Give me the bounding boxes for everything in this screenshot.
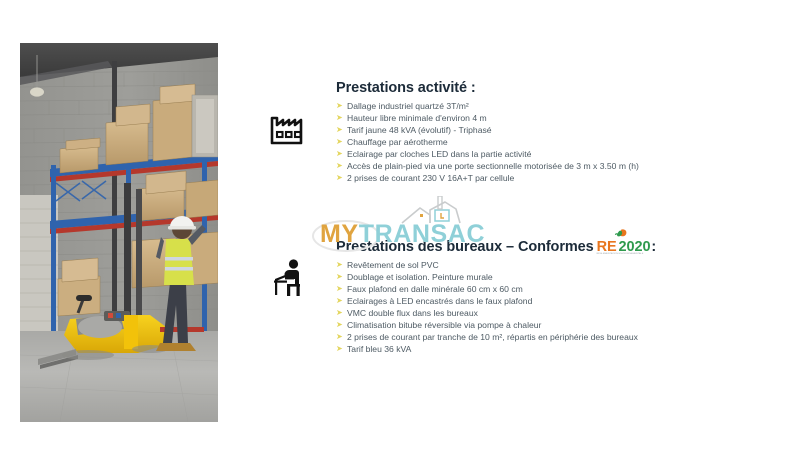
factory-icon-glyph — [266, 106, 312, 152]
list-item: ➤Accès de plain-pied via une porte secti… — [336, 160, 786, 172]
list-item: ➤Dallage industriel quartzé 3T/m² — [336, 100, 786, 112]
re-badge-subtitle: RÉGLEMENTATION ENVIRONNEMENTALE — [597, 253, 644, 255]
specifications-content: Prestations activité : ➤Dallage industri… — [258, 80, 786, 380]
chevron-right-icon: ➤ — [336, 271, 343, 283]
chevron-right-icon: ➤ — [336, 283, 343, 295]
list-item: ➤Hauteur libre minimale d'environ 4 m — [336, 112, 786, 124]
factory-icon — [266, 106, 312, 152]
section-activite-title: Prestations activité : — [336, 80, 786, 96]
chevron-right-icon: ➤ — [336, 136, 343, 148]
section-bureaux: Prestations des bureaux – ConformesRE202… — [258, 239, 786, 355]
list-item: ➤Tarif jaune 48 kVA (évolutif) - Triphas… — [336, 124, 786, 136]
chevron-right-icon: ➤ — [336, 160, 343, 172]
list-item: ➤2 prises de courant par tranche de 10 m… — [336, 331, 786, 343]
list-item: ➤2 prises de courant 230 V 16A+T par cel… — [336, 172, 786, 184]
chevron-right-icon: ➤ — [336, 112, 343, 124]
chevron-right-icon: ➤ — [336, 307, 343, 319]
leaf-icon-glyph — [614, 228, 627, 239]
leaf-icon — [614, 228, 627, 239]
list-item: ➤Doublage et isolation. Peinture murale — [336, 271, 786, 283]
list-item: ➤Chauffage par aérotherme — [336, 136, 786, 148]
list-item: ➤Eclairage par cloches LED dans la parti… — [336, 148, 786, 160]
warehouse-interior-photo — [20, 43, 218, 422]
warehouse-photo-graphic — [20, 43, 218, 422]
slide-canvas: Prestations activité : ➤Dallage industri… — [0, 0, 800, 450]
list-item: ➤Eclairages à LED encastrés dans le faux… — [336, 295, 786, 307]
activite-bullet-list: ➤Dallage industriel quartzé 3T/m² ➤Haute… — [336, 100, 786, 184]
chevron-right-icon: ➤ — [336, 100, 343, 112]
list-item: ➤Faux plafond en dalle minérale 60 cm x … — [336, 283, 786, 295]
person-at-desk-icon — [266, 254, 312, 300]
chevron-right-icon: ➤ — [336, 259, 343, 271]
list-item: ➤Revêtement de sol PVC — [336, 259, 786, 271]
person-at-desk-icon-glyph — [266, 254, 312, 300]
chevron-right-icon: ➤ — [336, 343, 343, 355]
chevron-right-icon: ➤ — [336, 331, 343, 343]
bureaux-bullet-list: ➤Revêtement de sol PVC ➤Doublage et isol… — [336, 259, 786, 355]
list-item: ➤Tarif bleu 36 kVA — [336, 343, 786, 355]
chevron-right-icon: ➤ — [336, 124, 343, 136]
chevron-right-icon: ➤ — [336, 172, 343, 184]
chevron-right-icon: ➤ — [336, 148, 343, 160]
section-activite: Prestations activité : ➤Dallage industri… — [258, 80, 786, 184]
list-item: ➤Climatisation bitube réversible via pom… — [336, 319, 786, 331]
section-bureaux-title-colon: : — [651, 239, 656, 255]
section-bureaux-title: Prestations des bureaux – ConformesRE202… — [336, 239, 786, 255]
chevron-right-icon: ➤ — [336, 319, 343, 331]
section-bureaux-title-text: Prestations des bureaux – Conformes — [336, 239, 594, 255]
re2020-badge: RE2020RÉGLEMENTATION ENVIRONNEMENTALE — [597, 239, 651, 255]
list-item: ➤VMC double flux dans les bureaux — [336, 307, 786, 319]
chevron-right-icon: ➤ — [336, 295, 343, 307]
